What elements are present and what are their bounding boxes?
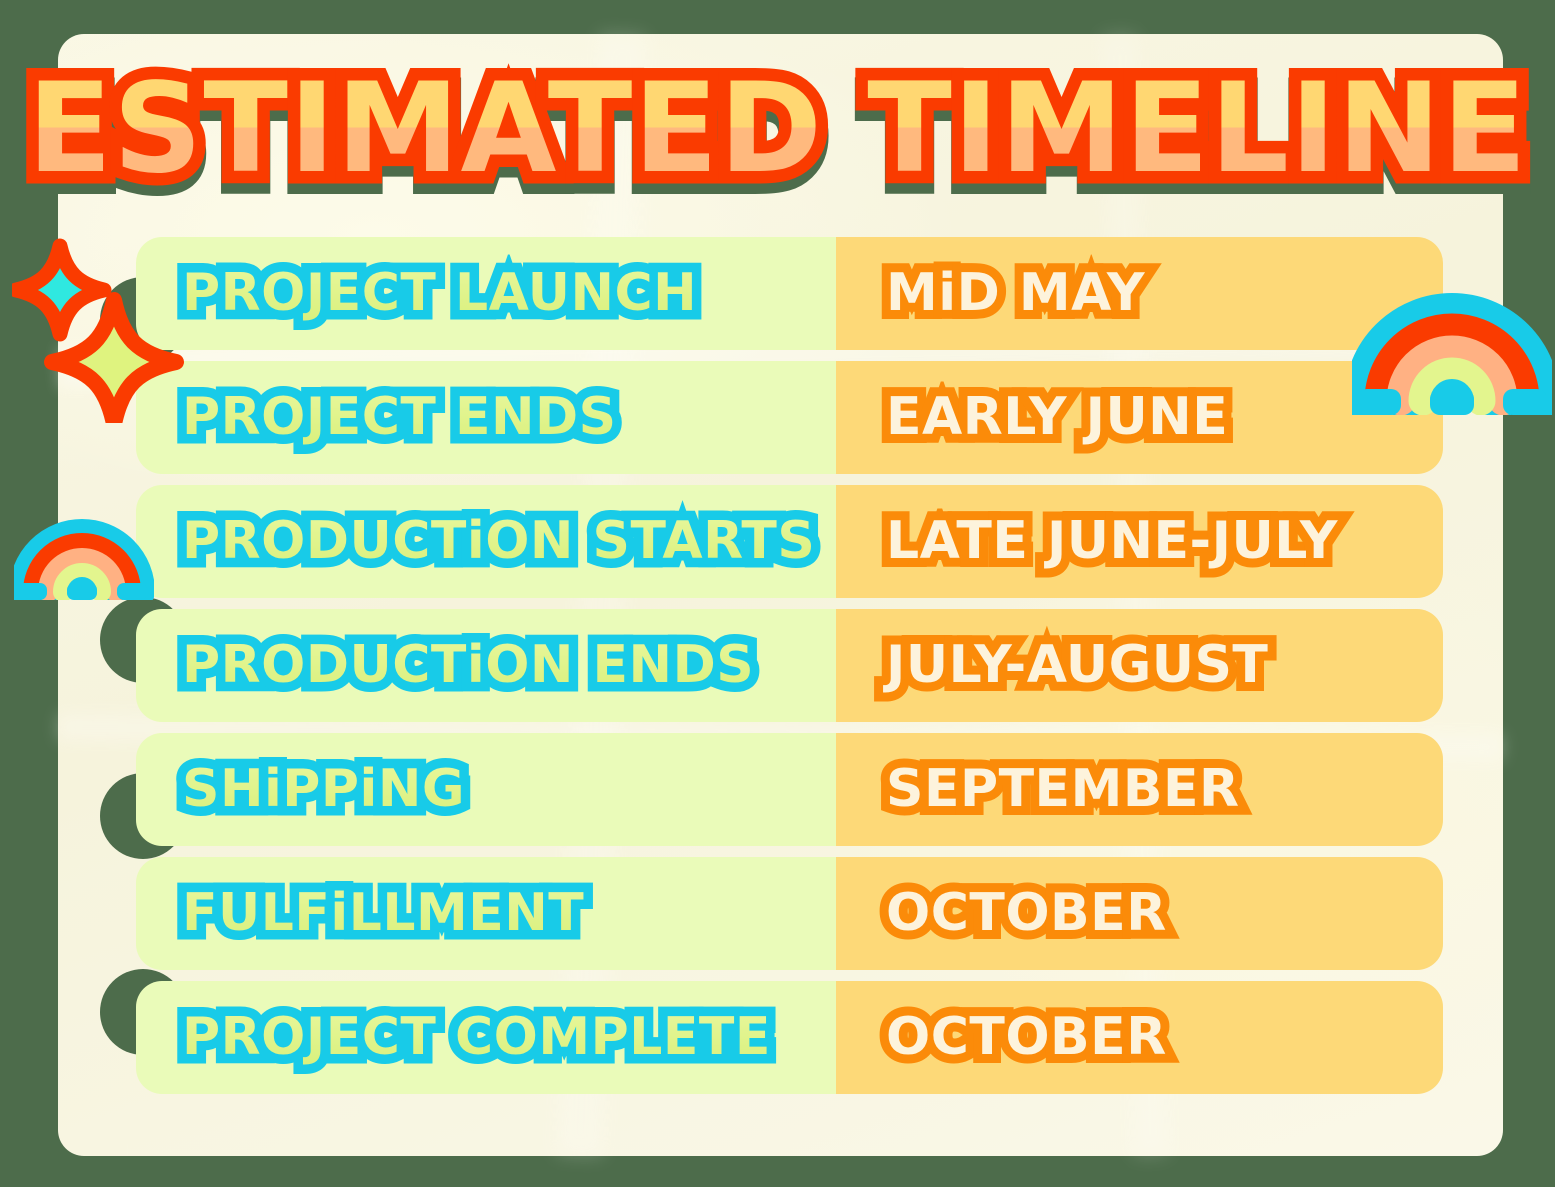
row-value: OCTOBER [886, 883, 1167, 943]
row-value-bar: MiD MAY MiD MAY [836, 237, 1443, 350]
row-label-bar: FULFiLLMENT FULFiLLMENT [136, 857, 836, 970]
timeline-row: SHiPPiNG SHiPPiNG SEPTEMBER SEPTEMBER [0, 733, 1555, 846]
row-value: EARLY JUNE [886, 387, 1228, 447]
row-label: FULFiLLMENT [182, 883, 584, 943]
timeline-row: PROJECT COMPLETE PROJECT COMPLETE OCTOBE… [0, 981, 1555, 1094]
row-label-bar: SHiPPiNG SHiPPiNG [136, 733, 836, 846]
row-label-bar: PROJECT LAUNCH PROJECT LAUNCH [136, 237, 836, 350]
row-label: PRODUCTiON ENDS [182, 635, 754, 695]
row-label-bar: PRODUCTiON STARTS PRODUCTiON STARTS [136, 485, 836, 598]
row-label: SHiPPiNG [182, 759, 465, 819]
timeline-row: PRODUCTiON ENDS PRODUCTiON ENDS JULY-AUG… [0, 609, 1555, 722]
row-value: LATE JUNE-JULY [886, 511, 1338, 571]
row-label: PRODUCTiON STARTS [182, 511, 815, 571]
row-label: PROJECT LAUNCH [182, 263, 697, 323]
row-value-bar: EARLY JUNE EARLY JUNE [836, 361, 1443, 474]
row-label: PROJECT COMPLETE [182, 1007, 771, 1067]
timeline-row: PRODUCTiON STARTS PRODUCTiON STARTS LATE… [0, 485, 1555, 598]
row-value: MiD MAY [886, 263, 1145, 323]
row-value-bar: JULY-AUGUST JULY-AUGUST [836, 609, 1443, 722]
row-value-bar: LATE JUNE-JULY LATE JUNE-JULY [836, 485, 1443, 598]
row-value-bar: OCTOBER OCTOBER [836, 857, 1443, 970]
row-label-bar: PROJECT ENDS PROJECT ENDS [136, 361, 836, 474]
row-value: OCTOBER [886, 1007, 1167, 1067]
timeline-row: PROJECT LAUNCH PROJECT LAUNCH MiD MAY Mi… [0, 237, 1555, 350]
timeline-row: FULFiLLMENT FULFiLLMENT OCTOBER OCTOBER [0, 857, 1555, 970]
timeline-rows: PROJECT LAUNCH PROJECT LAUNCH MiD MAY Mi… [0, 237, 1555, 1094]
timeline-row: PROJECT ENDS PROJECT ENDS EARLY JUNE EAR… [0, 361, 1555, 474]
row-label-bar: PRODUCTiON ENDS PRODUCTiON ENDS [136, 609, 836, 722]
row-value-bar: OCTOBER OCTOBER [836, 981, 1443, 1094]
row-value: SEPTEMBER [886, 759, 1240, 819]
timeline-page: ESTIMATED TIMELINE ESTIMATED TIMELINE ES… [0, 0, 1555, 1187]
row-label: PROJECT ENDS [182, 387, 617, 447]
row-value: JULY-AUGUST [886, 635, 1268, 695]
page-title: ESTIMATED TIMELINE ESTIMATED TIMELINE ES… [0, 54, 1555, 204]
row-value-bar: SEPTEMBER SEPTEMBER [836, 733, 1443, 846]
row-label-bar: PROJECT COMPLETE PROJECT COMPLETE [136, 981, 836, 1094]
title-fill-layer: ESTIMATED TIMELINE [27, 57, 1527, 201]
